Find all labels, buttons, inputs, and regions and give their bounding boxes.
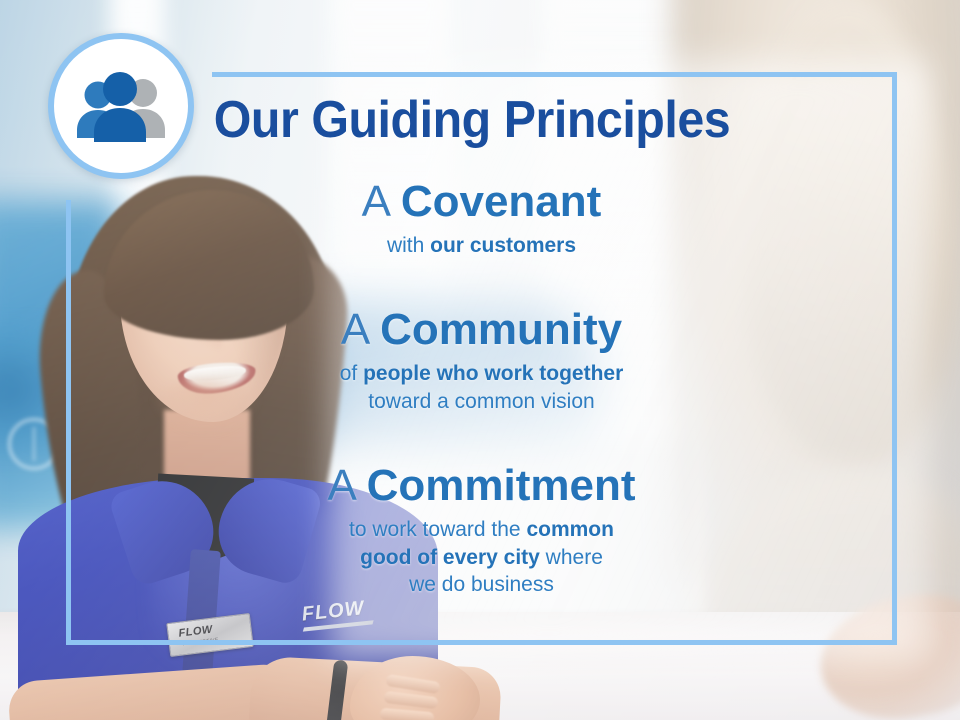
principle-community-word: Community [380,305,622,354]
principle-commitment-subtext: to work toward the commongood of every c… [66,516,897,599]
principle-covenant-title: A Covenant [66,180,897,225]
principle-commitment-title: A Commitment [66,464,897,509]
principle-commitment-article: A [327,461,354,510]
page-title: Our Guiding Principles [94,94,849,146]
principle-covenant-subtext: with our customers [66,232,897,260]
principle-covenant-word: Covenant [401,177,601,226]
principle-covenant-article: A [362,177,389,226]
principle-covenant: A Covenant with our customers [66,180,960,260]
principle-commitment: A Commitment to work toward the commongo… [66,464,897,599]
principle-community-article: A [341,305,368,354]
text-content: Our Guiding Principles A Covenant with o… [66,72,897,645]
guiding-principles-graphic: FLOW AUTOMOTIVE FLOW [0,0,960,720]
principle-community-title: A Community [66,308,897,353]
principle-commitment-word: Commitment [367,461,636,510]
principle-community: A Community of people who work togethert… [66,308,919,415]
principle-community-subtext: of people who work togethertoward a comm… [66,360,897,415]
